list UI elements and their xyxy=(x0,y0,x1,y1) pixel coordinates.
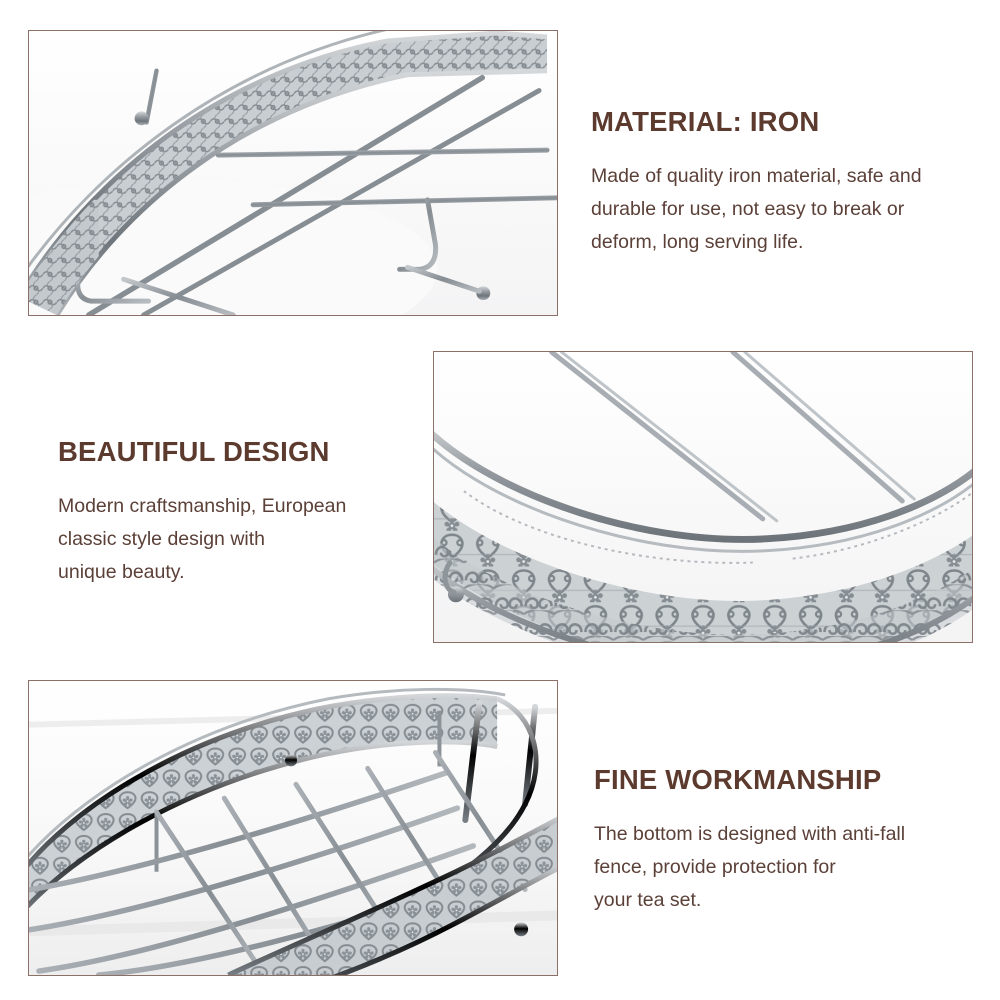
feature-image-panel-workmanship xyxy=(28,680,558,976)
feature-image-panel-design xyxy=(433,351,973,643)
product-photo-material xyxy=(29,31,557,315)
feature-text-material: MATERIAL: IRON Made of quality iron mate… xyxy=(591,107,991,259)
feature-body-line: deform, long serving life. xyxy=(591,226,991,259)
feature-body-line: unique beauty. xyxy=(58,556,428,589)
feature-body-design: Modern craftsmanship, European classic s… xyxy=(58,490,428,589)
feature-body-line: durable for use, not easy to break or xyxy=(591,193,991,226)
feature-body-line: your tea set. xyxy=(594,884,984,917)
product-photo-design xyxy=(434,352,972,642)
product-photo-workmanship xyxy=(29,681,557,975)
feature-body-line: classic style design with xyxy=(58,523,428,556)
feature-body-line: fence, provide protection for xyxy=(594,851,984,884)
feature-text-workmanship: FINE WORKMANSHIP The bottom is designed … xyxy=(594,765,984,917)
feature-heading-material: MATERIAL: IRON xyxy=(591,107,991,137)
feature-body-workmanship: The bottom is designed with anti-fall fe… xyxy=(594,818,984,917)
feature-body-line: Made of quality iron material, safe and xyxy=(591,160,991,193)
feature-heading-design: BEAUTIFUL DESIGN xyxy=(58,437,428,467)
feature-heading-workmanship: FINE WORKMANSHIP xyxy=(594,765,984,795)
feature-text-design: BEAUTIFUL DESIGN Modern craftsmanship, E… xyxy=(58,437,428,589)
feature-body-line: The bottom is designed with anti-fall xyxy=(594,818,984,851)
feature-body-material: Made of quality iron material, safe and … xyxy=(591,160,991,259)
feature-body-line: Modern craftsmanship, European xyxy=(58,490,428,523)
feature-image-panel-material xyxy=(28,30,558,316)
